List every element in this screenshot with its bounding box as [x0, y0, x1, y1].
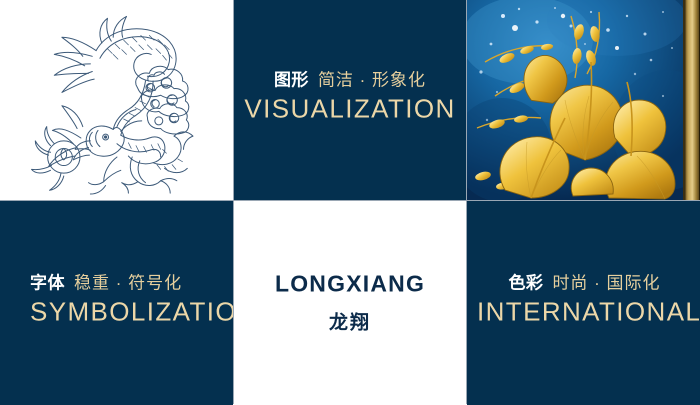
international-text-block: 色彩时尚 · 国际化 INTERNATIONAL	[467, 273, 700, 329]
panel-ginkgo-art	[467, 0, 700, 200]
brand-identity-board: 图形简洁 · 形象化 VISUALIZATION	[0, 0, 700, 404]
brand-chinese-name: 龙翔	[234, 312, 466, 337]
international-cn-sub: 时尚 · 国际化	[552, 274, 660, 293]
symbolization-text-block: 字体稳重 · 符号化 SYMBOLIZATION	[0, 273, 233, 329]
dragon-icon	[0, 0, 233, 200]
visualization-en-label: VISUALIZATION	[244, 94, 456, 126]
symbolization-cn-sub: 稳重 · 符号化	[74, 274, 182, 293]
symbolization-cn-key: 字体	[30, 274, 65, 293]
international-cn-line: 色彩时尚 · 国际化	[477, 273, 692, 295]
visualization-cn-line: 图形简洁 · 形象化	[244, 70, 456, 92]
brand-text-block: LONGXIANG 龙翔	[234, 270, 466, 337]
international-cn-key: 色彩	[508, 274, 543, 293]
panel-international: 色彩时尚 · 国际化 INTERNATIONAL	[467, 201, 700, 405]
visualization-cn-key: 图形	[274, 71, 309, 90]
international-en-label: INTERNATIONAL	[477, 297, 692, 329]
panel-visualization: 图形简洁 · 形象化 VISUALIZATION	[234, 0, 466, 200]
panel-brand-lockup: LONGXIANG 龙翔	[234, 201, 466, 405]
panel-symbolization: 字体稳重 · 符号化 SYMBOLIZATION	[0, 201, 233, 405]
symbolization-cn-line: 字体稳重 · 符号化	[30, 273, 211, 295]
ginkgo-leaf-icon	[467, 0, 700, 200]
visualization-text-block: 图形简洁 · 形象化 VISUALIZATION	[234, 70, 466, 126]
brand-latin-name: LONGXIANG	[234, 270, 466, 300]
panel-dragon-art	[0, 0, 233, 200]
symbolization-en-label: SYMBOLIZATION	[30, 297, 211, 329]
visualization-cn-sub: 简洁 · 形象化	[318, 71, 426, 90]
